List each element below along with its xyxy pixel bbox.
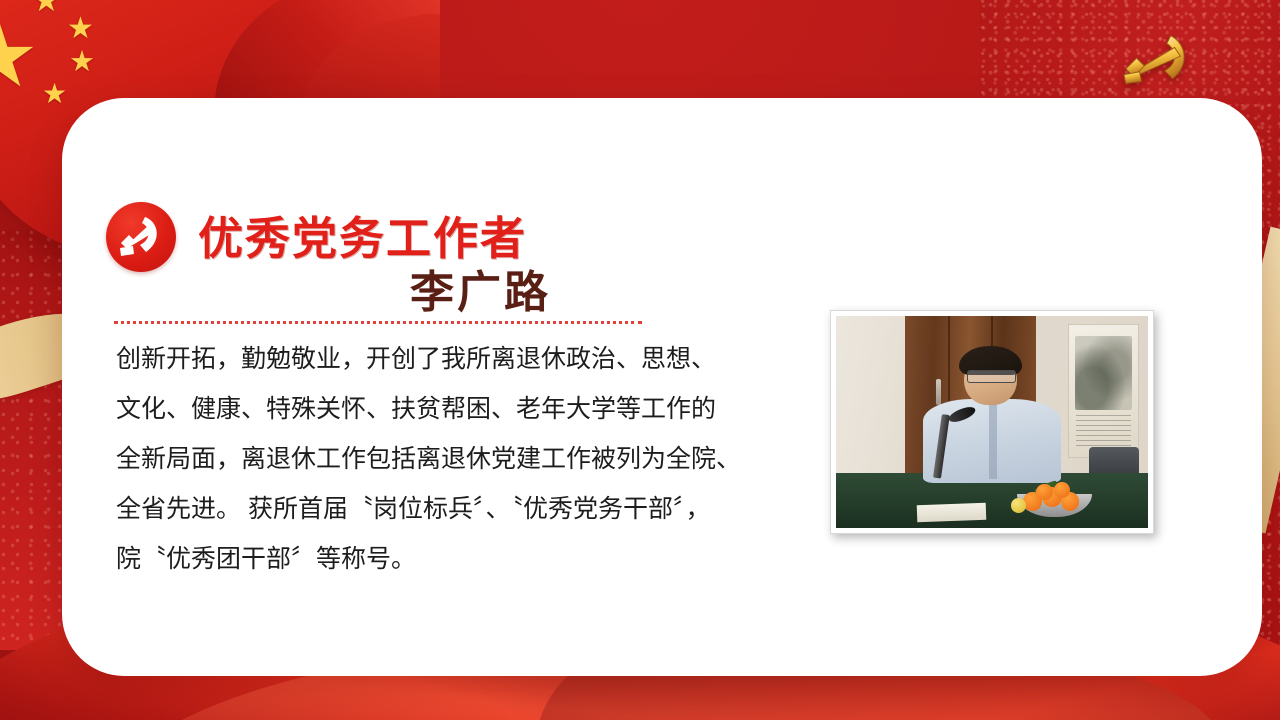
photo-papers (917, 502, 986, 521)
photo-canvas (836, 316, 1148, 528)
body-line: 创新开拓，勤勉敬业，开创了我所离退休政治、思想、 (92, 334, 812, 384)
photo-door-handle (936, 379, 941, 405)
flag-star-small-4-icon: ★ (42, 80, 67, 108)
flag-star-small-3-icon: ★ (69, 48, 95, 77)
body-line: 院〝优秀团干部〞等称号。 (92, 534, 812, 584)
dotted-divider (114, 321, 642, 324)
person-photo (830, 310, 1154, 534)
body-line: 全新局面，离退休工作包括离退休党建工作被列为全院、 (92, 434, 812, 484)
body-line: 全省先进。 获所首届〝岗位标兵〞、〝优秀党务干部〞， (92, 484, 812, 534)
photo-scroll-text (1076, 415, 1131, 447)
photo-scroll-ink (1075, 336, 1133, 410)
gold-hammer-sickle-icon (1110, 26, 1208, 100)
photo-person-glasses (967, 370, 1016, 383)
photo-shirt-placket (989, 403, 997, 479)
person-name: 李广路 (410, 256, 551, 320)
photo-scroll-painting (1068, 324, 1139, 457)
slide-root: ★ ★ ★ ★ ★ (0, 0, 1280, 720)
body-text: 创新开拓，勤勉敬业，开创了我所离退休政治、思想、 文化、健康、特殊关怀、扶贫帮困… (92, 334, 812, 584)
content-card: 优秀党务工作者 李广路 创新开拓，勤勉敬业，开创了我所离退休政治、思想、 文化、… (62, 98, 1262, 676)
photo-fruit (1036, 484, 1053, 501)
hammer-sickle-badge-icon (106, 202, 176, 272)
flag-star-small-1-icon: ★ (32, 0, 61, 16)
flag-star-small-2-icon: ★ (67, 14, 94, 44)
body-line: 文化、健康、特殊关怀、扶贫帮困、老年大学等工作的 (92, 384, 812, 434)
flag-star-large-icon: ★ (0, 12, 39, 100)
